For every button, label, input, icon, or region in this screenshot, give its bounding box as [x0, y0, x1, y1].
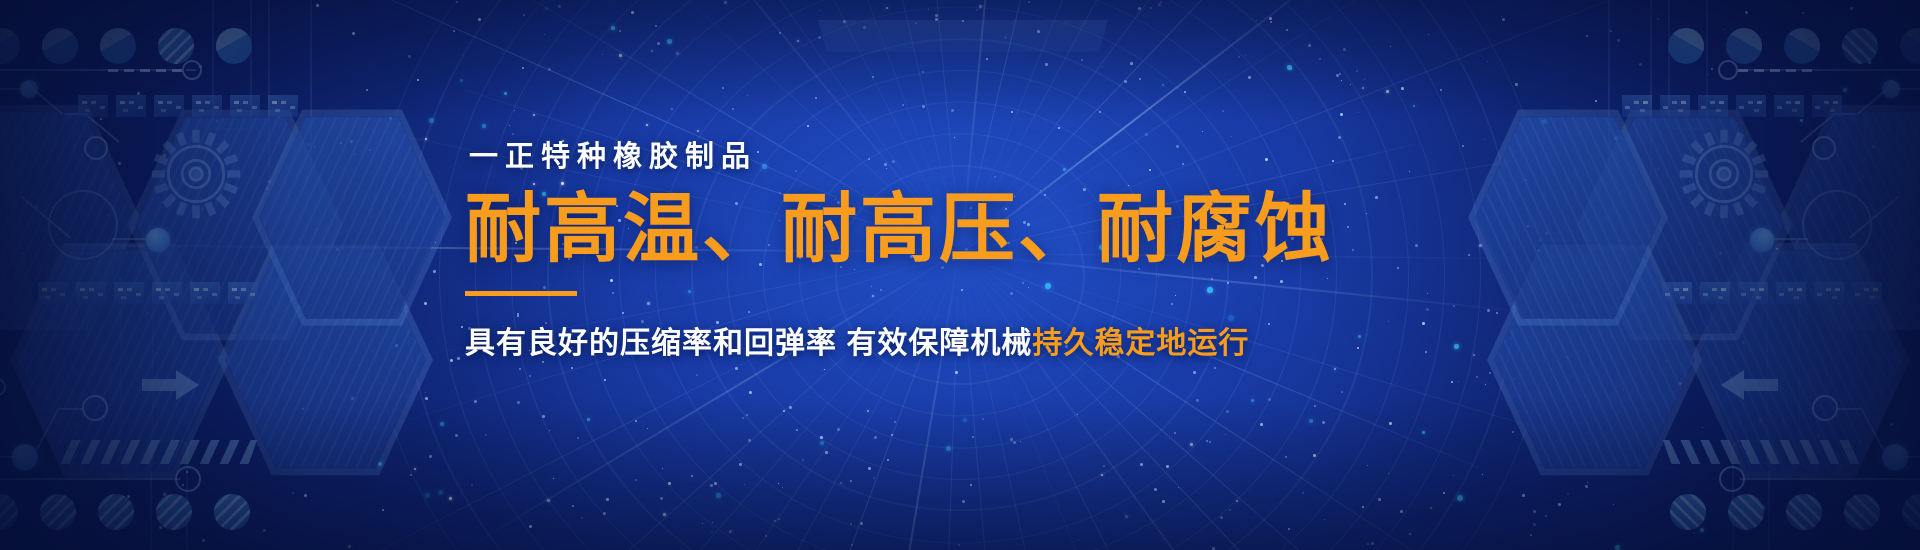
- data-chip: [1738, 282, 1768, 304]
- circuit-line: [1894, 88, 1920, 90]
- page-title: 耐高温、耐高压、耐腐蚀: [465, 189, 1455, 271]
- decor-circle: [1844, 494, 1880, 530]
- circuit-line: [1836, 408, 1860, 410]
- circuit-dot: [1750, 228, 1774, 252]
- decor-circle: [1726, 28, 1762, 64]
- arrow-left-icon: [1720, 368, 1778, 402]
- circuit-line-dashed: [1732, 69, 1812, 72]
- decor-circle: [1842, 28, 1878, 64]
- banner-subtitle: 具有良好的压缩率和回弹率 有效保障机械持久稳定地运行: [465, 318, 1455, 362]
- data-chip: [1698, 95, 1728, 117]
- data-chip-row: [1622, 95, 1842, 117]
- subtitle-primary-text: 具有良好的压缩率和回弹率 有效保障机械: [465, 327, 1032, 360]
- hero-banner: 一正特种橡胶制品 耐高温、耐高压、耐腐蚀 具有良好的压缩率和回弹率 有效保障机械…: [0, 0, 1920, 550]
- data-chip: [1660, 95, 1690, 117]
- decor-circle: [1668, 28, 1704, 64]
- data-chip: [1852, 282, 1882, 304]
- circuit-line: [1740, 478, 1920, 480]
- brand-eyebrow: 一正特种橡胶制品: [469, 140, 1455, 175]
- gear-icon: [1678, 128, 1770, 220]
- data-chip: [1736, 95, 1766, 117]
- data-chip-row: [1662, 282, 1882, 304]
- decor-circle: [1728, 494, 1764, 530]
- circle-row: [1670, 494, 1920, 530]
- decor-circle: [1784, 28, 1820, 64]
- data-chip: [1700, 282, 1730, 304]
- subtitle-accent-text: 持久稳定地运行: [1032, 327, 1249, 360]
- decor-circle: [1902, 494, 1920, 530]
- data-chip: [1812, 95, 1842, 117]
- decor-circle: [1900, 28, 1920, 64]
- banner-content: 一正特种橡胶制品 耐高温、耐高压、耐腐蚀 具有良好的压缩率和回弹率 有效保障机械…: [465, 140, 1455, 362]
- circuit-node: [1812, 395, 1838, 421]
- data-chip: [1776, 282, 1806, 304]
- data-chip: [1662, 282, 1692, 304]
- title-divider: [465, 291, 577, 296]
- circuit-node: [1719, 466, 1745, 492]
- striped-bar: [1663, 440, 1868, 464]
- circle-row: [1668, 28, 1920, 64]
- data-chip: [1814, 282, 1844, 304]
- circuit-line: [1768, 238, 1808, 240]
- dome-top-plate: [818, 20, 1108, 52]
- circuit-node: [1812, 136, 1836, 160]
- decor-circle: [1670, 494, 1706, 530]
- decor-circle: [1786, 494, 1822, 530]
- data-chip: [1774, 95, 1804, 117]
- circuit-node: [1718, 60, 1738, 80]
- data-chip: [1622, 95, 1652, 117]
- circuit-line: [1900, 456, 1920, 458]
